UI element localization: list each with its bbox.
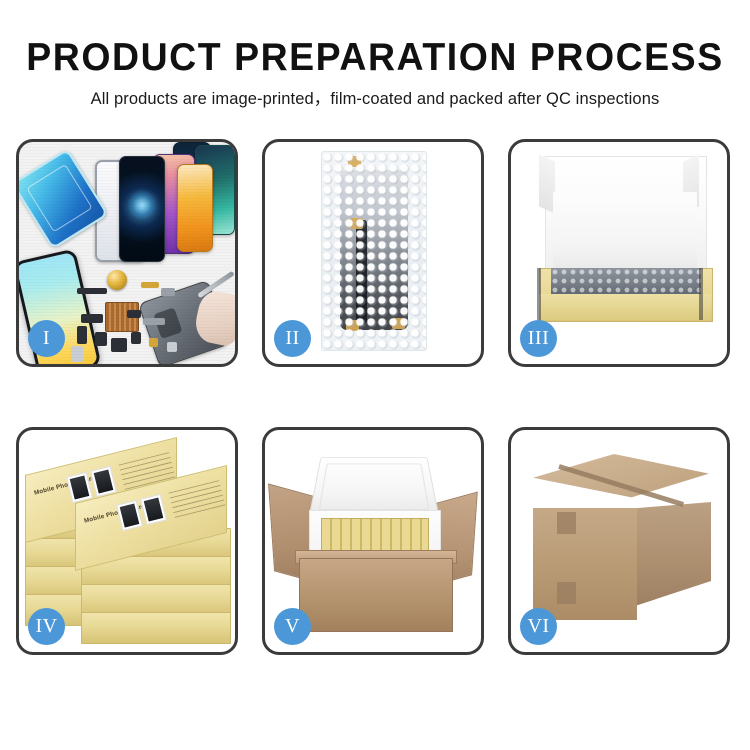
step-card-6[interactable]: VI xyxy=(508,427,730,655)
stacked-box-right-4 xyxy=(81,612,231,644)
page-title: PRODUCT PREPARATION PROCESS xyxy=(15,38,735,77)
bubble-texture xyxy=(322,152,426,350)
part-speaker xyxy=(111,338,127,352)
step-card-2[interactable]: II xyxy=(262,139,484,367)
part-sim-tray xyxy=(71,346,83,362)
part-strip-1 xyxy=(77,288,107,294)
part-connector-2 xyxy=(77,326,87,344)
carton-tape-upper xyxy=(557,512,576,534)
step-badge-5: V xyxy=(274,608,311,645)
part-camera xyxy=(95,332,107,346)
bubble-wrapped-contents xyxy=(551,268,701,296)
step-card-1[interactable]: I xyxy=(16,139,238,367)
foam-insert xyxy=(553,192,697,270)
page-header: PRODUCT PREPARATION PROCESS All products… xyxy=(0,0,750,108)
wireless-charging-coil xyxy=(107,270,127,290)
step-card-4[interactable]: Mobile Phone Spare Parts Mobile Phone Sp… xyxy=(16,427,238,655)
box-stack: Mobile Phone Spare Parts Mobile Phone Sp… xyxy=(25,450,235,630)
part-connector-1 xyxy=(81,314,103,323)
carton-front-face xyxy=(299,558,453,632)
part-bracket xyxy=(161,288,175,296)
step-badge-2: II xyxy=(274,320,311,357)
part-shield xyxy=(127,310,141,318)
step-badge-1: I xyxy=(28,320,65,357)
carton-front-face xyxy=(533,508,637,620)
box-edge-right xyxy=(699,268,703,320)
phone-dark-wallpaper xyxy=(119,156,165,262)
part-button xyxy=(167,342,177,352)
carton-tape-lower xyxy=(557,582,576,604)
part-vibrator xyxy=(131,332,141,344)
box-edge-left xyxy=(537,268,541,320)
page-subtitle: All products are image-printed，film-coat… xyxy=(0,91,750,108)
part-antenna xyxy=(143,318,165,325)
step-badge-6: VI xyxy=(520,608,557,645)
step-badge-4: IV xyxy=(28,608,65,645)
step-card-5[interactable]: V xyxy=(262,427,484,655)
process-steps-grid: I II III xyxy=(16,139,734,655)
part-gold-flex xyxy=(141,282,159,288)
box-tray-front-face xyxy=(539,294,711,320)
bubble-wrap-pouch xyxy=(321,151,427,351)
step-card-3[interactable]: III xyxy=(508,139,730,367)
carton-side-face xyxy=(635,502,711,606)
phone-orange xyxy=(177,164,213,252)
part-screw-set xyxy=(149,338,158,347)
step-badge-3: III xyxy=(520,320,557,357)
